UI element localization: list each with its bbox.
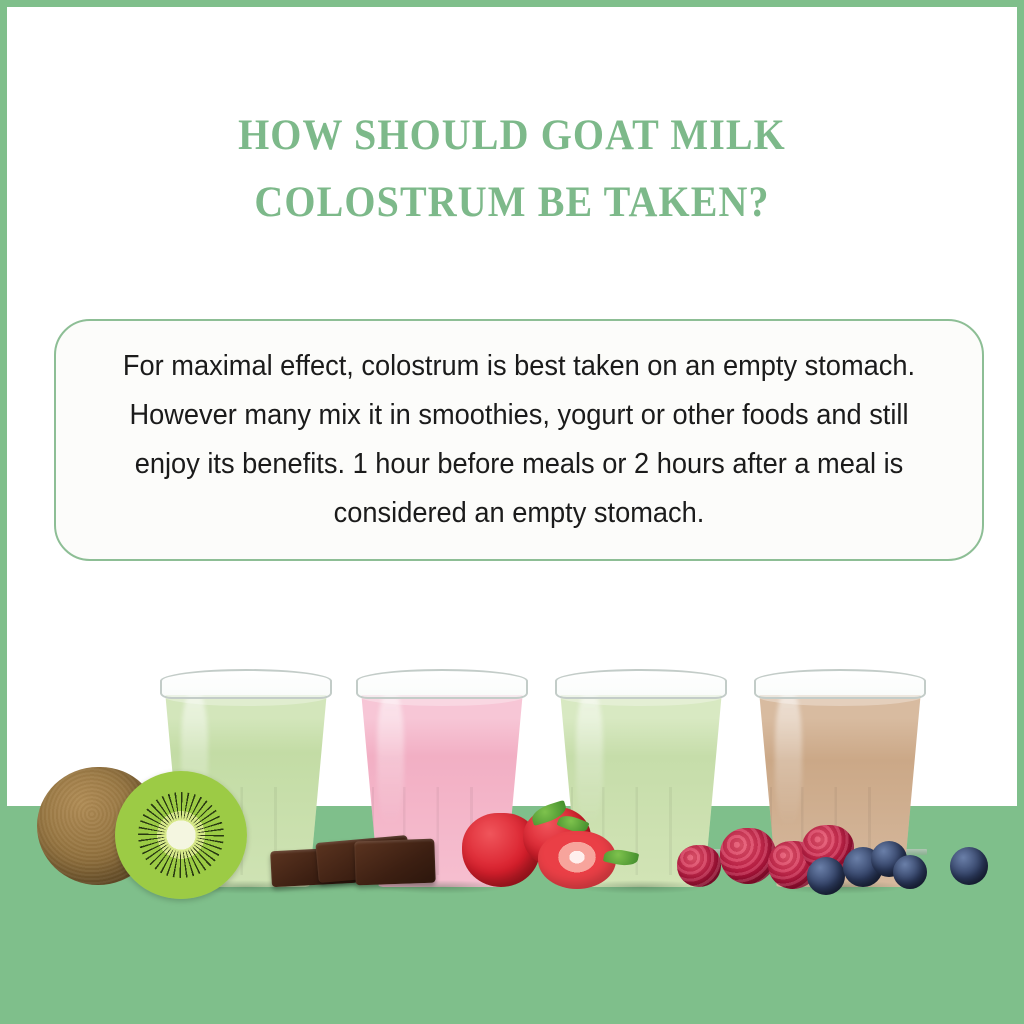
poster-canvas: HOW SHOULD GOAT MILK COLOSTRUM BE TAKEN?… xyxy=(0,0,1024,1024)
glass-rim xyxy=(555,669,727,699)
glass-highlight xyxy=(775,691,802,826)
chocolate-square xyxy=(354,839,435,886)
info-card: For maximal effect, colostrum is best ta… xyxy=(54,319,984,561)
glass-rim xyxy=(160,669,332,699)
glass-highlight xyxy=(377,691,404,826)
glass-rim xyxy=(754,669,926,699)
raspberry xyxy=(720,828,776,884)
info-card-body: For maximal effect, colostrum is best ta… xyxy=(77,342,961,538)
blueberry xyxy=(893,855,927,889)
blueberry xyxy=(950,847,988,885)
title-line-2: COLOSTRUM BE TAKEN? xyxy=(126,170,898,237)
title-line-1: HOW SHOULD GOAT MILK xyxy=(126,103,898,170)
glass-rim xyxy=(356,669,528,699)
kiwi-half-fruit xyxy=(115,771,247,899)
raspberry xyxy=(677,845,721,887)
blueberry xyxy=(807,857,845,895)
page-title: HOW SHOULD GOAT MILK COLOSTRUM BE TAKEN? xyxy=(7,103,1017,236)
product-scene xyxy=(7,599,1017,1017)
glass-highlight xyxy=(576,691,603,826)
